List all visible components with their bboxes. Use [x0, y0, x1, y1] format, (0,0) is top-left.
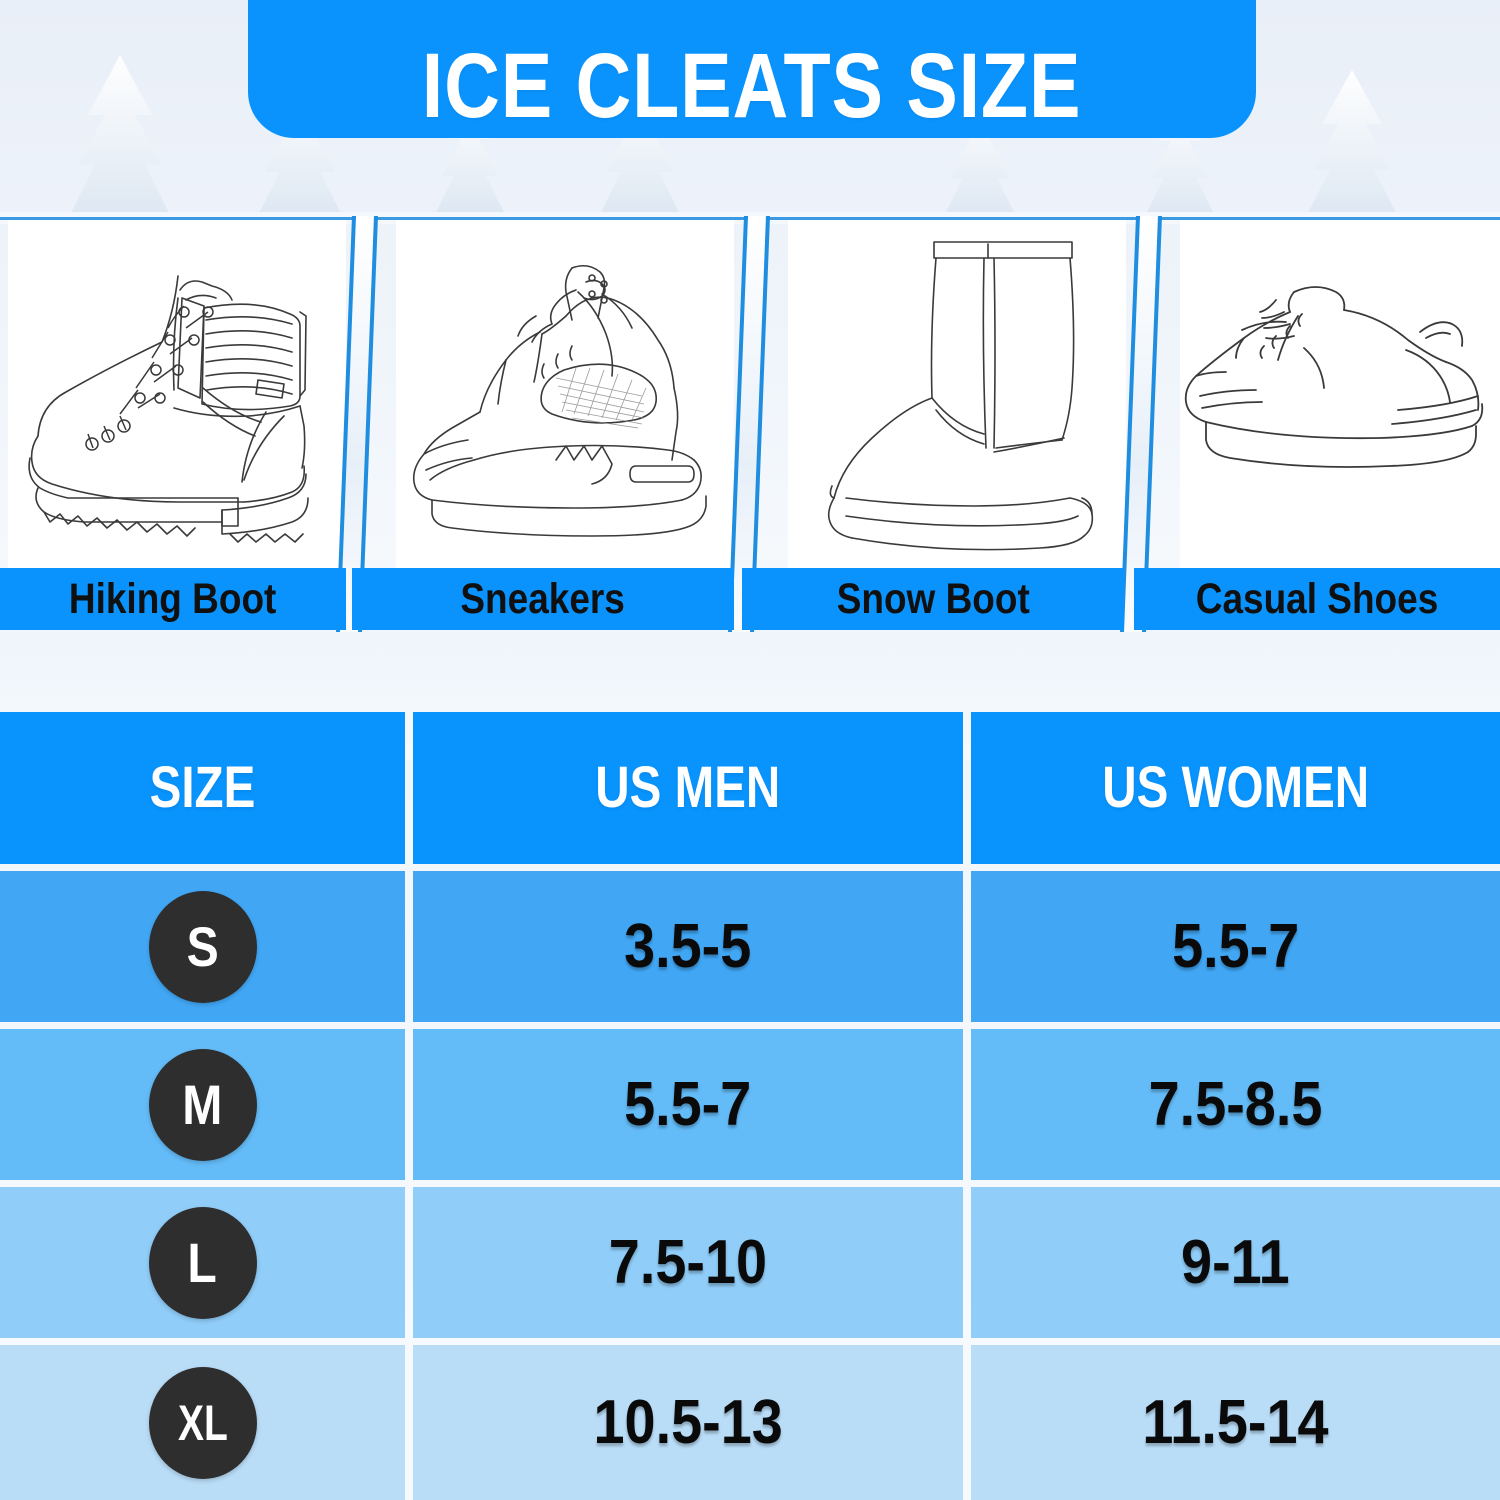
size-badge-text: M [182, 1077, 222, 1133]
footwear-labels: Hiking Boot Sneakers Snow Boot Casual Sh… [0, 568, 1500, 630]
header-cell-us-men: US MEN [413, 712, 963, 864]
table-row: S 3.5-5 5.5-7 [0, 871, 1500, 1022]
size-table: SIZE US MEN US WOMEN S 3.5-5 5.5-7 [0, 712, 1500, 1500]
size-badge: S [149, 891, 257, 1003]
size-badge-text: XL [178, 1398, 228, 1448]
us-men-cell: 5.5-7 [413, 1029, 963, 1180]
us-men-cell: 3.5-5 [413, 871, 963, 1022]
table-row: L 7.5-10 9-11 [0, 1187, 1500, 1338]
us-men-value: 7.5-10 [609, 1232, 767, 1294]
page-title: ICE CLEATS SIZE [422, 40, 1082, 132]
header-cell-size: SIZE [0, 712, 405, 864]
size-badge: M [149, 1049, 257, 1161]
header-us-men-text: US MEN [596, 759, 781, 817]
size-cell: L [0, 1187, 405, 1338]
us-women-cell: 5.5-7 [971, 871, 1500, 1022]
us-women-value: 9-11 [1181, 1232, 1290, 1294]
size-cell: XL [0, 1345, 405, 1500]
size-chart-page: ICE CLEATS SIZE [0, 0, 1500, 1500]
us-women-cell: 11.5-14 [971, 1345, 1500, 1500]
header-cell-us-women: US WOMEN [971, 712, 1500, 864]
label-text: Casual Shoes [1196, 578, 1439, 621]
us-women-value: 7.5-8.5 [1149, 1074, 1323, 1136]
us-men-value: 5.5-7 [624, 1074, 751, 1136]
label-text: Snow Boot [836, 578, 1029, 621]
us-men-value: 3.5-5 [624, 916, 751, 978]
us-women-cell: 9-11 [971, 1187, 1500, 1338]
us-women-value: 11.5-14 [1142, 1392, 1328, 1454]
us-men-cell: 10.5-13 [413, 1345, 963, 1500]
page-title-banner: ICE CLEATS SIZE [248, 0, 1256, 138]
size-cell: S [0, 871, 405, 1022]
label-hiking-boot: Hiking Boot [0, 568, 346, 630]
table-row: XL 10.5-13 11.5-14 [0, 1345, 1500, 1500]
label-sneakers: Sneakers [352, 568, 734, 630]
label-text: Sneakers [461, 578, 625, 621]
header-us-women-text: US WOMEN [1102, 759, 1369, 817]
us-women-cell: 7.5-8.5 [971, 1029, 1500, 1180]
size-badge-text: L [188, 1235, 217, 1291]
size-badge-text: S [186, 919, 218, 975]
label-text: Hiking Boot [69, 578, 276, 621]
label-casual-shoes: Casual Shoes [1134, 568, 1500, 630]
label-snow-boot: Snow Boot [742, 568, 1124, 630]
table-row: M 5.5-7 7.5-8.5 [0, 1029, 1500, 1180]
table-header-row: SIZE US MEN US WOMEN [0, 712, 1500, 864]
header-size-text: SIZE [150, 759, 256, 817]
size-badge: L [149, 1207, 257, 1319]
us-women-value: 5.5-7 [1172, 916, 1299, 978]
size-cell: M [0, 1029, 405, 1180]
us-men-cell: 7.5-10 [413, 1187, 963, 1338]
us-men-value: 10.5-13 [593, 1392, 782, 1454]
size-badge: XL [149, 1367, 257, 1479]
